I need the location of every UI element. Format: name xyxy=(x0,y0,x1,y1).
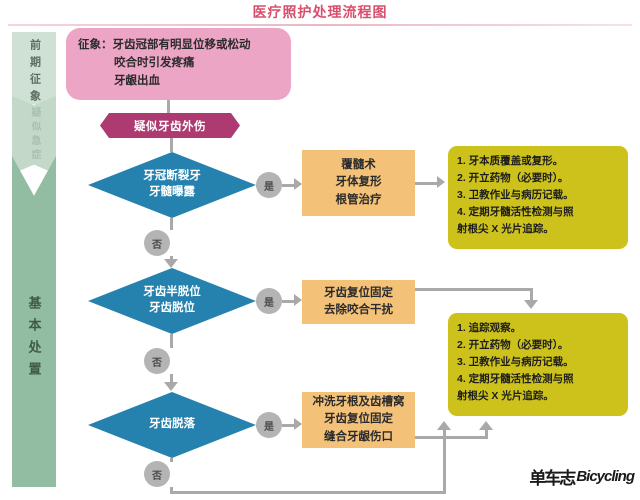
outcome-2-line-3: 3. 卫教作业与病历记载。 xyxy=(457,354,622,371)
arrow-right-icon-treatment-1 xyxy=(294,178,302,190)
stage-segment-basic-management: 基本处置 xyxy=(12,156,56,487)
stage-rail: 前期征象 疑似急症 基本处置 xyxy=(12,32,56,487)
arrow-down-icon-decision-3 xyxy=(164,382,178,391)
treatment-irrigate-replant: 冲洗牙根及齿槽窝 牙齿复位固定 缝合牙龈伤口 xyxy=(302,392,415,448)
treatment-3-line-1: 冲洗牙根及齿槽窝 xyxy=(313,394,405,411)
watermark-cn: 单车志 xyxy=(529,464,574,489)
suspected-trauma-banner: 疑似牙齿外伤 xyxy=(100,113,240,138)
stage-segment-suspected-emergency: 疑似急症 xyxy=(12,96,56,174)
outcome-1-line-3: 3. 卫教作业与病历记载。 xyxy=(457,187,622,204)
connector-bottom-rail xyxy=(170,491,446,494)
no-label-decision-2: 否 xyxy=(144,348,170,374)
yes-label-decision-2: 是 xyxy=(256,288,282,314)
treatment-1-line-1: 覆髓术 xyxy=(341,157,376,174)
decision-1-line-1: 牙冠断裂牙 xyxy=(143,169,201,185)
connector-treatment-1-to-outcome-1 xyxy=(415,182,439,185)
decision-crown-fracture: 牙冠断裂牙 牙髓曝露 xyxy=(88,152,256,218)
treatment-3-line-3: 缝合牙龈伤口 xyxy=(324,429,393,446)
outcome-2-line-5: 射根尖 X 光片追踪。 xyxy=(457,388,622,405)
watermark-en: Bicycling xyxy=(576,468,634,485)
connector-treatment-3-elbow-h xyxy=(415,436,488,439)
arrow-right-icon-outcome-1 xyxy=(437,176,445,188)
arrow-down-icon-decision-2 xyxy=(164,259,178,268)
symptom-line-3: 牙龈出血 xyxy=(78,73,281,91)
treatment-reposition-splint: 牙齿复位固定 去除咬合干扰 xyxy=(302,280,415,324)
stage-label-basic-management: 基本处置 xyxy=(28,296,41,384)
arrow-up-icon-outcome-2-left xyxy=(437,421,451,430)
connector-bottom-rail-riser xyxy=(443,430,446,492)
outcome-2-line-2: 2. 开立药物（必要时）。 xyxy=(457,337,622,354)
symptom-box: 征象：牙齿冠部有明显位移或松动 咬合时引发疼痛 牙龈出血 xyxy=(66,28,291,100)
treatment-1-line-3: 根管治疗 xyxy=(336,192,382,209)
arrow-down-icon-outcome-2 xyxy=(524,300,538,309)
outcome-1-line-5: 射根尖 X 光片追踪。 xyxy=(457,221,622,238)
stage-label-early-signs: 前期征象 xyxy=(29,39,40,107)
watermark: 单车志 Bicycling xyxy=(470,462,634,490)
decision-2-line-1: 牙齿半脱位 xyxy=(143,285,201,301)
outcome-2-line-1: 1. 追踪观察。 xyxy=(457,320,622,337)
decision-tooth-avulsion: 牙齿脱落 xyxy=(88,392,256,458)
decision-tooth-luxation: 牙齿半脱位 牙齿脱位 xyxy=(88,268,256,334)
outcome-crown-fracture: 1. 牙本质覆盖或复形。 2. 开立药物（必要时）。 3. 卫教作业与病历记载。… xyxy=(448,146,628,249)
page-title: 医疗照护处理流程图 xyxy=(0,2,640,22)
connector-treatment-3-elbow-v xyxy=(485,430,488,438)
arrow-right-icon-treatment-3 xyxy=(294,418,302,430)
header-divider xyxy=(8,24,632,26)
arrow-right-icon-treatment-2 xyxy=(294,294,302,306)
treatment-2-line-2: 去除咬合干扰 xyxy=(324,302,393,319)
decision-1-line-2: 牙髓曝露 xyxy=(149,185,195,201)
arrow-up-icon-outcome-2-right xyxy=(479,421,493,430)
no-label-decision-1: 否 xyxy=(144,230,170,256)
outcome-2-line-4: 4. 定期牙髓活性检测与照 xyxy=(457,371,622,388)
yes-label-decision-1: 是 xyxy=(256,172,282,198)
outcome-1-line-1: 1. 牙本质覆盖或复形。 xyxy=(457,153,622,170)
outcome-luxation-avulsion: 1. 追踪观察。 2. 开立药物（必要时）。 3. 卫教作业与病历记载。 4. … xyxy=(448,313,628,416)
treatment-1-line-2: 牙体复形 xyxy=(336,174,382,191)
connector-decision-3-no-stub xyxy=(170,458,173,462)
outcome-1-line-4: 4. 定期牙髓活性检测与照 xyxy=(457,204,622,221)
treatment-3-line-2: 牙齿复位固定 xyxy=(324,411,393,428)
yes-label-decision-3: 是 xyxy=(256,412,282,438)
stage-label-suspected-emergency: 疑似急症 xyxy=(29,107,39,163)
treatment-2-line-1: 牙齿复位固定 xyxy=(324,285,393,302)
connector-decision-2-no-stub xyxy=(170,334,173,348)
connector-symptom-to-banner xyxy=(167,100,170,114)
connector-decision-1-no-stub xyxy=(170,218,173,230)
symptom-line-2: 咬合时引发疼痛 xyxy=(78,55,281,73)
connector-treatment-2-elbow-h xyxy=(415,288,533,291)
decision-3-line-1: 牙齿脱落 xyxy=(149,417,195,433)
symptom-line-1: 征象：牙齿冠部有明显位移或松动 xyxy=(78,37,281,55)
treatment-pulp-capping: 覆髓术 牙体复形 根管治疗 xyxy=(302,150,415,216)
flowchart-canvas: 医疗照护处理流程图 前期征象 疑似急症 基本处置 征象：牙齿冠部有明显位移或松动… xyxy=(0,0,640,500)
outcome-1-line-2: 2. 开立药物（必要时）。 xyxy=(457,170,622,187)
connector-banner-to-decision-1 xyxy=(170,138,173,152)
decision-2-line-2: 牙齿脱位 xyxy=(149,301,195,317)
no-label-decision-3: 否 xyxy=(144,461,170,487)
